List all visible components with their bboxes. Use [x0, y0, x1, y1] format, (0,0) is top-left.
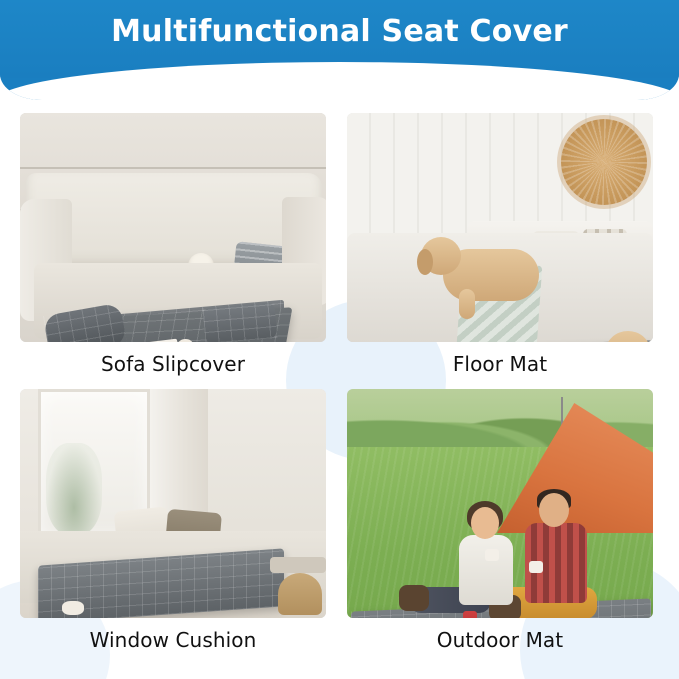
rattan-wall-decor — [561, 119, 647, 205]
photo-outdoor-mat — [347, 389, 653, 618]
woman-cup — [485, 549, 499, 561]
woman-torso — [459, 535, 513, 605]
woman-head — [471, 507, 499, 539]
panel-caption-outdoor-mat: Outdoor Mat — [347, 628, 653, 652]
panel-window-cushion: Window Cushion — [20, 389, 326, 652]
rattan-rays — [561, 119, 647, 205]
panel-grid: Sofa Slipcover — [0, 108, 679, 668]
photo-floor-mat — [347, 113, 653, 342]
dog-on-sofa-ear — [417, 249, 433, 275]
dog-on-sofa-leg — [459, 289, 475, 319]
page-title: Multifunctional Seat Cover — [0, 14, 679, 49]
panel-caption-sofa-slipcover: Sofa Slipcover — [20, 352, 326, 376]
wooden-stool — [278, 573, 322, 615]
panel-floor-mat: Floor Mat — [347, 113, 653, 376]
wall-panel-line — [20, 167, 326, 169]
quilt-pattern — [203, 302, 278, 342]
photo-sofa-slipcover — [20, 113, 326, 342]
gray-pillow — [203, 302, 278, 342]
man-head — [539, 493, 569, 527]
panel-outdoor-mat: Outdoor Mat — [347, 389, 653, 652]
photo-window-cushion — [20, 389, 326, 618]
side-table — [270, 557, 326, 573]
man-cup — [529, 561, 543, 573]
header-banner: Multifunctional Seat Cover — [0, 0, 679, 100]
cup — [62, 601, 84, 615]
panel-caption-window-cushion: Window Cushion — [20, 628, 326, 652]
product-infographic: Multifunctional Seat Cover — [0, 0, 679, 679]
woman-boot — [399, 585, 429, 611]
panel-caption-floor-mat: Floor Mat — [347, 352, 653, 376]
thermos — [463, 611, 477, 618]
panel-sofa-slipcover: Sofa Slipcover — [20, 113, 326, 376]
